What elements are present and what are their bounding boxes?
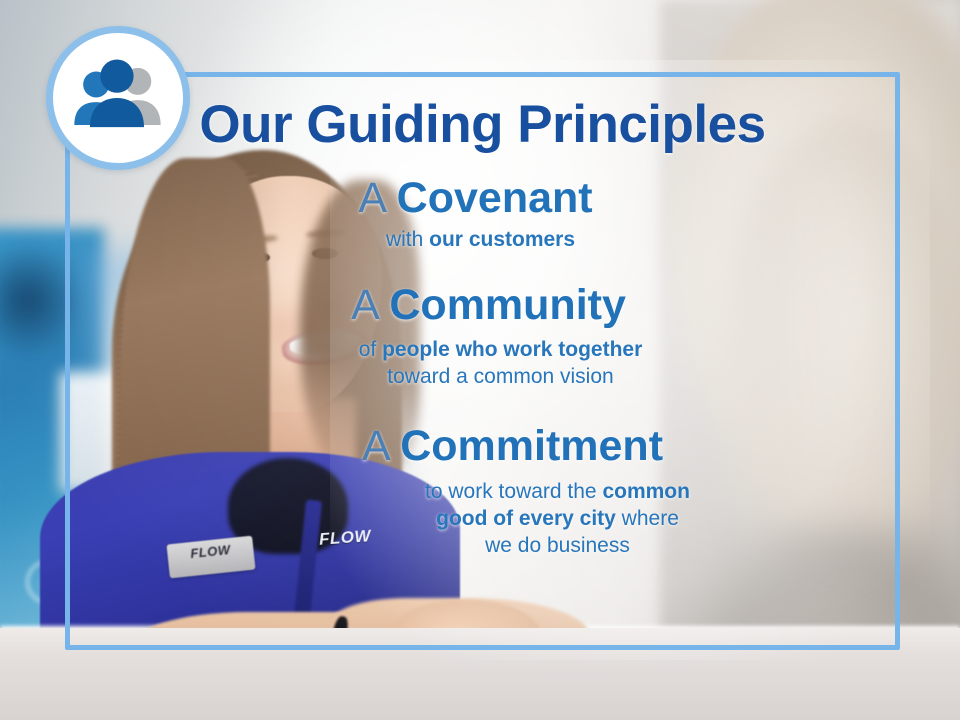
commitment-sub-line2-bold: good of every city bbox=[436, 507, 616, 530]
principle-community-subtext: of people who work together toward a com… bbox=[65, 337, 900, 391]
covenant-sub-line1-plain: with bbox=[386, 228, 429, 251]
principle-community-word: Community bbox=[389, 281, 626, 329]
principle-covenant: A Covenant with our customers bbox=[65, 175, 900, 254]
community-sub-line2-plain: toward a common vision bbox=[387, 365, 613, 388]
principle-covenant-subtext: with our customers bbox=[65, 227, 900, 254]
community-sub-line1-bold: people who work together bbox=[382, 338, 642, 361]
commitment-sub-line3-plain: we do business bbox=[485, 534, 630, 557]
principle-commitment-word: Commitment bbox=[400, 422, 663, 470]
commitment-sub-line1-plain: to work toward the bbox=[425, 480, 602, 503]
covenant-sub-line1-bold: our customers bbox=[429, 228, 575, 251]
page-title: Our Guiding Principles bbox=[65, 98, 900, 151]
principle-covenant-article: A bbox=[358, 174, 384, 222]
principle-commitment-article: A bbox=[362, 422, 388, 470]
principle-commitment-subtext: to work toward the common good of every … bbox=[65, 479, 900, 560]
principle-commitment-heading: A Commitment bbox=[65, 423, 900, 469]
commitment-sub-line1-bold: common bbox=[602, 480, 690, 503]
principle-covenant-heading: A Covenant bbox=[65, 175, 900, 221]
principle-commitment: A Commitment to work toward the common g… bbox=[65, 423, 900, 560]
principles-content: Our Guiding Principles A Covenant with o… bbox=[65, 72, 900, 650]
principle-covenant-word: Covenant bbox=[397, 174, 593, 222]
principle-community-article: A bbox=[351, 281, 377, 329]
commitment-sub-line2-plain: where bbox=[616, 507, 679, 530]
community-sub-line1-plain: of bbox=[359, 338, 382, 361]
principle-community-heading: A Community bbox=[65, 282, 900, 328]
principle-community: A Community of people who work together … bbox=[65, 282, 900, 390]
